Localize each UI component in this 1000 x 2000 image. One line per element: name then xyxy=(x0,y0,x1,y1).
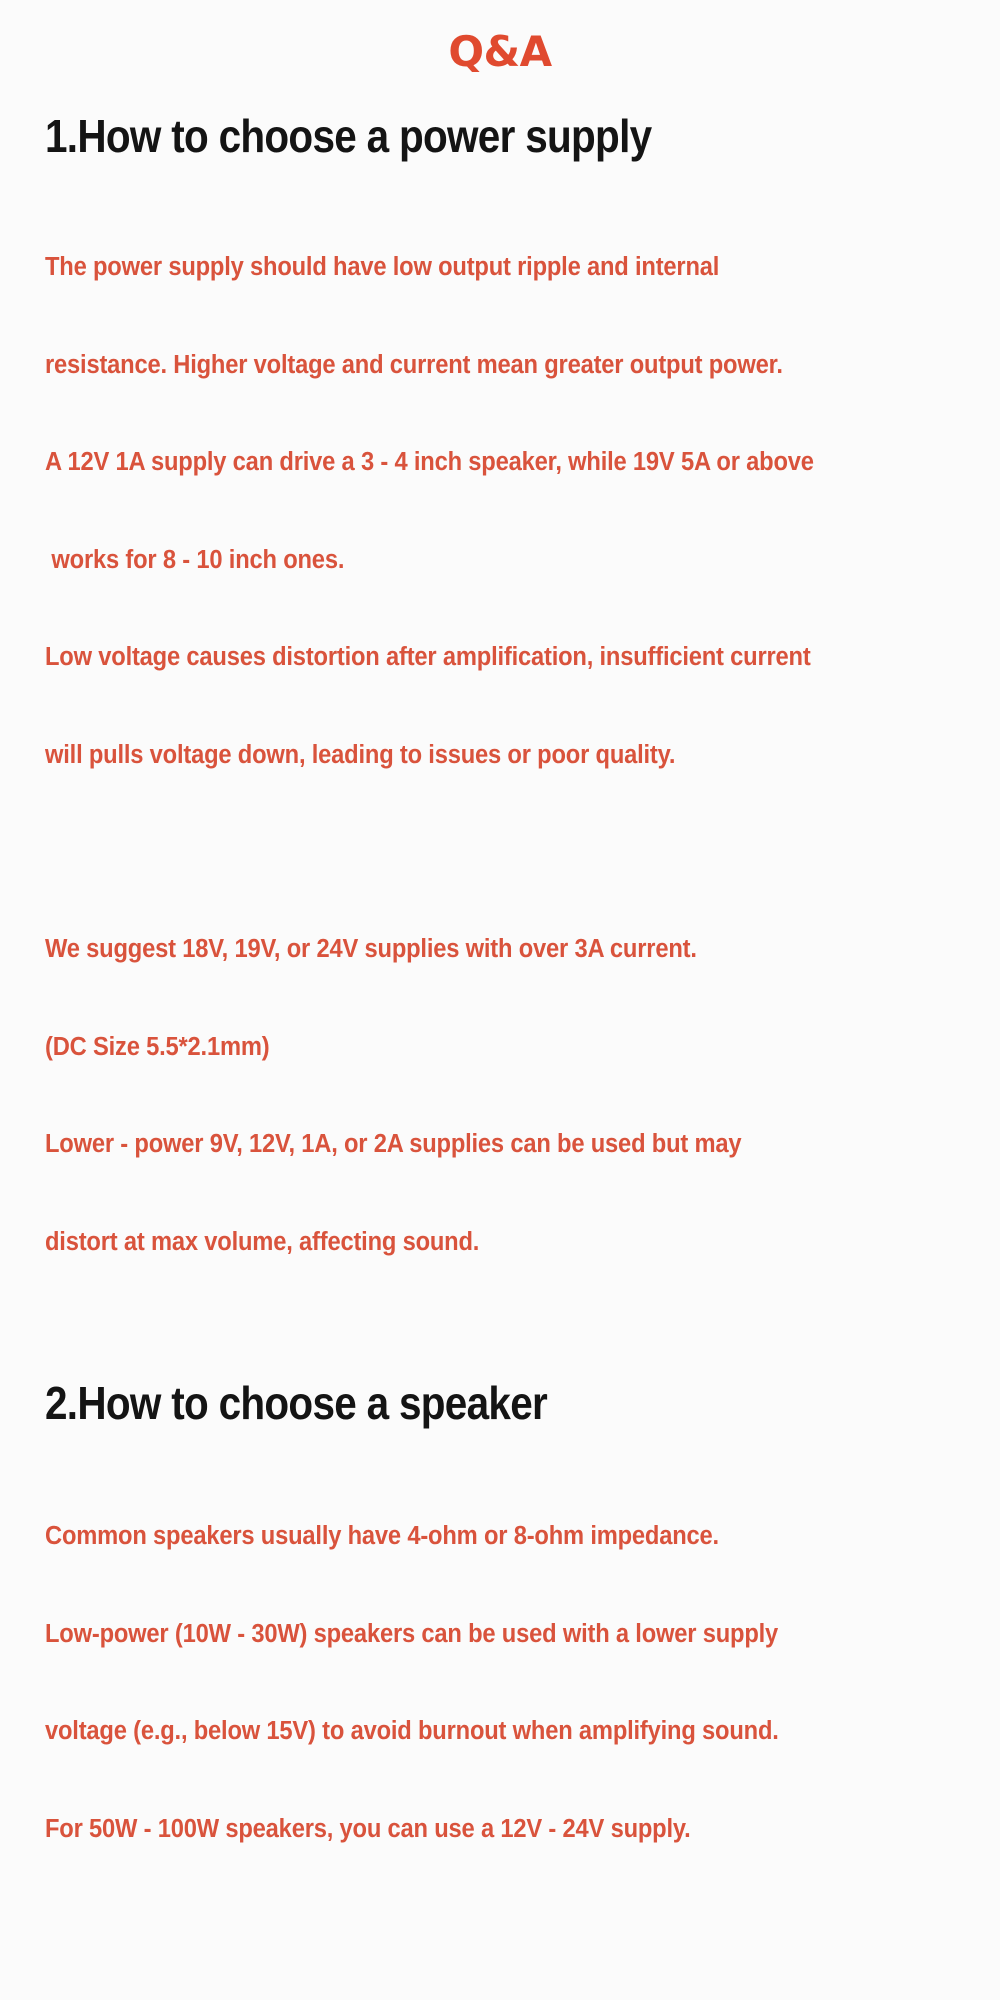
section-1-paragraph-1: The power supply should have low output … xyxy=(45,186,910,836)
section-speaker: 2.How to choose a speaker Common speaker… xyxy=(45,1375,975,2000)
section-2-heading: 2.How to choose a speaker xyxy=(45,1375,863,1431)
paragraph-line: will pulls voltage down, leading to issu… xyxy=(45,739,910,772)
section-power-supply: 1.How to choose a power supply The power… xyxy=(45,108,975,1323)
paragraph-line: works for 8 - 10 inch ones. xyxy=(45,544,910,577)
section-2-paragraph-1: Common speakers usually have 4-ohm or 8-… xyxy=(45,1455,910,1910)
paragraph-line: resistance. Higher voltage and current m… xyxy=(45,349,910,382)
section-1-paragraph-2: We suggest 18V, 19V, or 24V supplies wit… xyxy=(45,868,910,1323)
paragraph-line: Lower - power 9V, 12V, 1A, or 2A supplie… xyxy=(45,1128,910,1161)
paragraph-line: For 50W - 100W speakers, you can use a 1… xyxy=(45,1813,910,1846)
section-1-heading: 1.How to choose a power supply xyxy=(45,108,863,164)
paragraph-line: Low-power (10W - 30W) speakers can be us… xyxy=(45,1618,910,1651)
paragraph-line: (DC Size 5.5*2.1mm) xyxy=(45,1031,910,1064)
paragraph-line: Common speakers usually have 4-ohm or 8-… xyxy=(45,1520,910,1553)
qa-page: Q&A 1.How to choose a power supply The p… xyxy=(0,0,1000,1000)
paragraph-line: voltage (e.g., below 15V) to avoid burno… xyxy=(45,1715,910,1748)
page-title: Q&A xyxy=(0,28,1000,76)
content-column: 1.How to choose a power supply The power… xyxy=(45,108,975,2000)
paragraph-line: A 12V 1A supply can drive a 3 - 4 inch s… xyxy=(45,446,910,479)
paragraph-line: We suggest 18V, 19V, or 24V supplies wit… xyxy=(45,933,910,966)
section-2-paragraph-2: Higher voltage means more output sound a… xyxy=(45,1942,910,2000)
paragraph-line: The power supply should have low output … xyxy=(45,251,910,284)
paragraph-line: distort at max volume, affecting sound. xyxy=(45,1226,910,1259)
paragraph-line: Low voltage causes distortion after ampl… xyxy=(45,641,910,674)
